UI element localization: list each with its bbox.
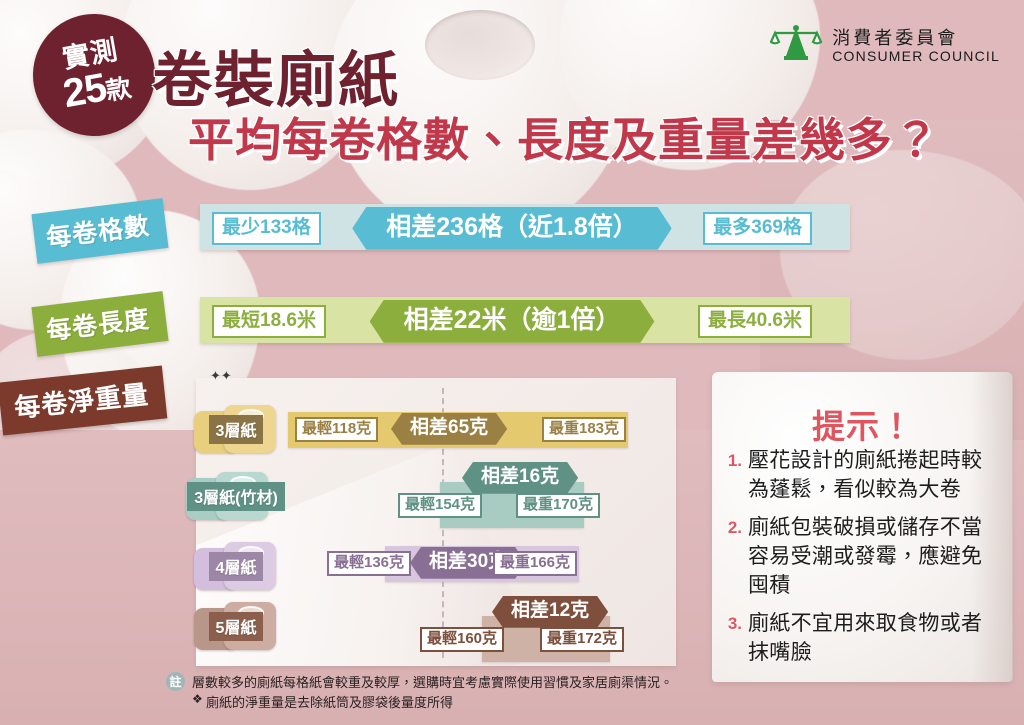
stat-max-sheets: 最多369格 <box>703 212 812 245</box>
footnote-line-2: 廁紙的淨重量是去除紙筒及膠袋後量度所得 <box>206 692 453 711</box>
footnote-line-1: 層數較多的廁紙每格紙會較重及較厚，選購時宜考慮實際使用習慣及家居廁渠情況。 <box>192 672 673 691</box>
weight-diff-3ply: 相差65克 <box>391 413 507 445</box>
tip-text: 廁紙不宜用來取食物或者抹嘴臉 <box>748 610 1002 668</box>
tip-item: 2. 廁紙包裝破損或儲存不當容易受潮或發霉，應避免囤積 <box>722 514 1002 601</box>
tip-text: 廁紙包裝破損或儲存不當容易受潮或發霉，應避免囤積 <box>748 514 1002 601</box>
category-label: 5層紙 <box>209 612 264 641</box>
infographic-poster: 實測 25款 卷裝廁紙 平均每卷格數、長度及重量差幾多？ 消費者委員會 CONS… <box>0 0 1024 725</box>
weight-max-5ply: 最重172克 <box>540 627 624 652</box>
tip-number: 2. <box>722 514 742 601</box>
category-icon-3ply: 3層紙 <box>188 403 284 455</box>
tips-title: 提示！ <box>812 400 914 448</box>
weight-min-3ply-bamboo: 最輕154克 <box>398 493 482 518</box>
note-badge: 註 <box>166 672 185 691</box>
logo-name-en: CONSUMER COUNCIL <box>832 49 1000 64</box>
tip-item: 1. 壓花設計的廁紙捲起時較為蓬鬆，看似較為大卷 <box>722 447 1002 505</box>
weight-diff-5ply: 相差12克 <box>492 596 608 628</box>
stat-diff-sheets: 相差236格（近1.8倍） <box>352 207 671 250</box>
tip-text: 壓花設計的廁紙捲起時較為蓬鬆，看似較為大卷 <box>748 447 1002 505</box>
stat-row-length: 每卷長度 最短18.6米 相差22米（逾1倍） 最長40.6米 <box>0 297 1024 343</box>
weight-min-5ply: 最輕160克 <box>420 627 504 652</box>
weight-diff-3ply-bamboo: 相差16克 <box>462 462 578 494</box>
stat-min-length: 最短18.6米 <box>212 305 326 338</box>
tips-list: 1. 壓花設計的廁紙捲起時較為蓬鬆，看似較為大卷 2. 廁紙包裝破損或儲存不當容… <box>722 447 1002 677</box>
weight-max-3ply: 最重183克 <box>542 417 626 442</box>
category-icon-5ply: 5層紙 <box>188 600 284 652</box>
tip-number: 1. <box>722 447 742 505</box>
weight-max-4ply: 最重166克 <box>493 551 577 576</box>
category-label: 4層紙 <box>209 552 264 581</box>
badge-count: 25款 <box>60 65 132 114</box>
tip-item: 3. 廁紙不宜用來取食物或者抹嘴臉 <box>722 610 1002 668</box>
stat-row-sheets: 每卷格數 最少133格 相差236格（近1.8倍） 最多369格 <box>0 204 1024 250</box>
stat-max-length: 最長40.6米 <box>698 305 812 338</box>
stat-min-sheets: 最少133格 <box>212 212 321 245</box>
weight-min-4ply: 最輕136克 <box>327 551 411 576</box>
category-icon-4ply: 4層紙 <box>188 540 284 592</box>
sparkle-icon: ✦✦ <box>210 368 232 384</box>
tip-number: 3. <box>722 610 742 668</box>
stat-diff-length: 相差22米（逾1倍） <box>370 300 655 343</box>
diamond-bullet-icon: ❖ <box>192 692 203 706</box>
page-subtitle: 平均每卷格數、長度及重量差幾多？ <box>188 104 940 170</box>
consumer-council-logo: 消費者委員會 CONSUMER COUNCIL <box>770 22 1000 71</box>
category-icon-3ply-bamboo: 3層紙(竹材) <box>180 470 292 522</box>
logo-name-cn: 消費者委員會 <box>832 29 1000 49</box>
scale-balance-icon <box>770 22 822 71</box>
weight-max-3ply-bamboo: 最重170克 <box>516 493 600 518</box>
category-label: 3層紙 <box>209 415 264 444</box>
weight-min-3ply: 最輕118克 <box>295 417 378 442</box>
category-label: 3層紙(竹材) <box>187 482 285 511</box>
